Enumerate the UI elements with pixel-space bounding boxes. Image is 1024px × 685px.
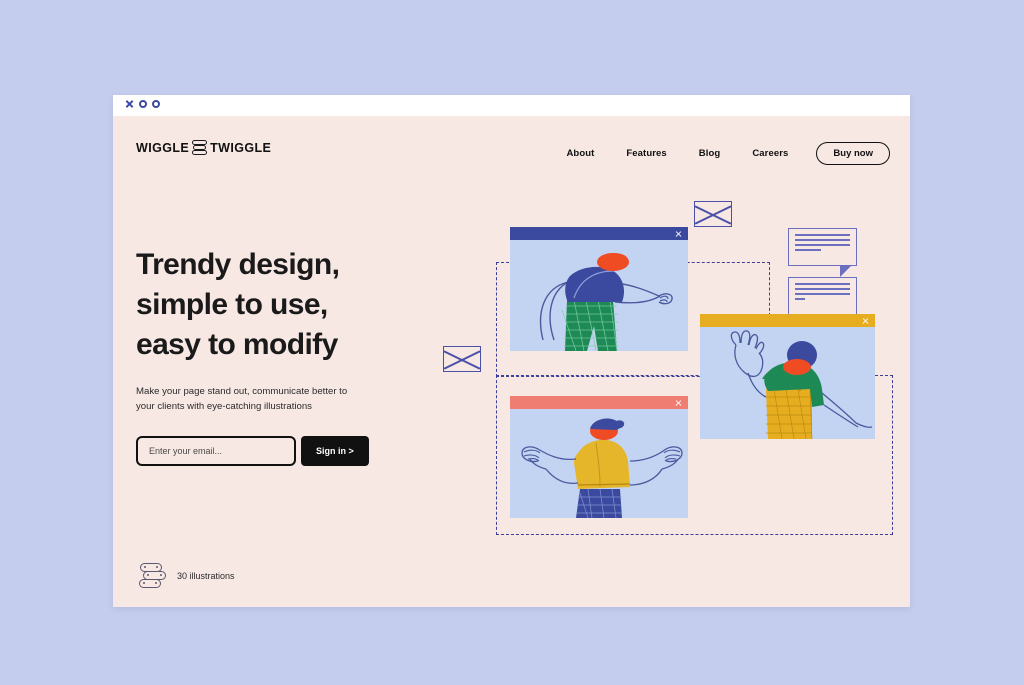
browser-titlebar <box>113 95 910 116</box>
chat-bubble-icon <box>788 228 857 266</box>
minimize-circle-icon[interactable] <box>139 100 147 108</box>
chat-bubble-icon <box>788 277 857 315</box>
site-header: WIGGLE TWIGGLE About Features Blog Caree… <box>113 116 910 186</box>
nav-item-about[interactable]: About <box>550 148 610 159</box>
close-icon[interactable] <box>675 399 682 406</box>
bubble-tail <box>840 266 851 277</box>
nav-item-blog[interactable]: Blog <box>683 148 737 159</box>
window-titlebar-yellow <box>700 314 875 327</box>
illustrations-count-badge: 30 illustrations <box>138 563 235 589</box>
brand-name-left: WIGGLE <box>136 141 189 155</box>
window-titlebar-coral <box>510 396 688 409</box>
brand-name-right: TWIGGLE <box>210 141 271 155</box>
headline-line-3: easy to modify <box>136 325 416 365</box>
hero-subtext: Make your page stand out, communicate be… <box>136 385 364 415</box>
main-nav: About Features Blog Careers Buy now <box>550 142 890 165</box>
illustration-window-yellow[interactable] <box>700 314 875 439</box>
nav-item-features[interactable]: Features <box>610 148 682 159</box>
person-shrugging-illustration <box>510 409 688 518</box>
email-field[interactable] <box>136 436 296 466</box>
illustration-canvas-coral <box>510 409 688 518</box>
person-pointing-illustration <box>510 240 688 351</box>
illustration-canvas-navy <box>510 240 688 351</box>
headline-line-1: Trendy design, <box>136 245 416 285</box>
window-controls <box>125 99 160 108</box>
close-icon[interactable] <box>862 317 869 324</box>
sign-in-button[interactable]: Sign in > <box>301 436 369 466</box>
illustrations-count-label: 30 illustrations <box>177 571 235 581</box>
illustration-window-navy[interactable] <box>510 227 688 351</box>
screenshot-stage: WIGGLE TWIGGLE About Features Blog Caree… <box>0 0 1024 685</box>
nav-item-careers[interactable]: Careers <box>736 148 804 159</box>
buy-now-button[interactable]: Buy now <box>816 142 890 165</box>
window-titlebar-navy <box>510 227 688 240</box>
stacked-layers-icon <box>138 563 166 589</box>
close-icon[interactable] <box>125 99 134 108</box>
stacked-layers-icon <box>191 140 208 155</box>
headline-line-2: simple to use, <box>136 285 416 325</box>
page-title: Trendy design, simple to use, easy to mo… <box>136 245 416 365</box>
browser-card: WIGGLE TWIGGLE About Features Blog Caree… <box>113 95 910 607</box>
person-waving-illustration <box>700 327 875 439</box>
maximize-circle-icon[interactable] <box>152 100 160 108</box>
signup-form: Sign in > <box>136 436 416 466</box>
illustration-canvas-yellow <box>700 327 875 439</box>
illustration-window-coral[interactable] <box>510 396 688 518</box>
brand-logo[interactable]: WIGGLE TWIGGLE <box>136 140 271 155</box>
envelope-icon <box>443 346 481 372</box>
close-icon[interactable] <box>675 230 682 237</box>
hero-section: Trendy design, simple to use, easy to mo… <box>136 245 416 466</box>
envelope-icon <box>694 201 732 227</box>
